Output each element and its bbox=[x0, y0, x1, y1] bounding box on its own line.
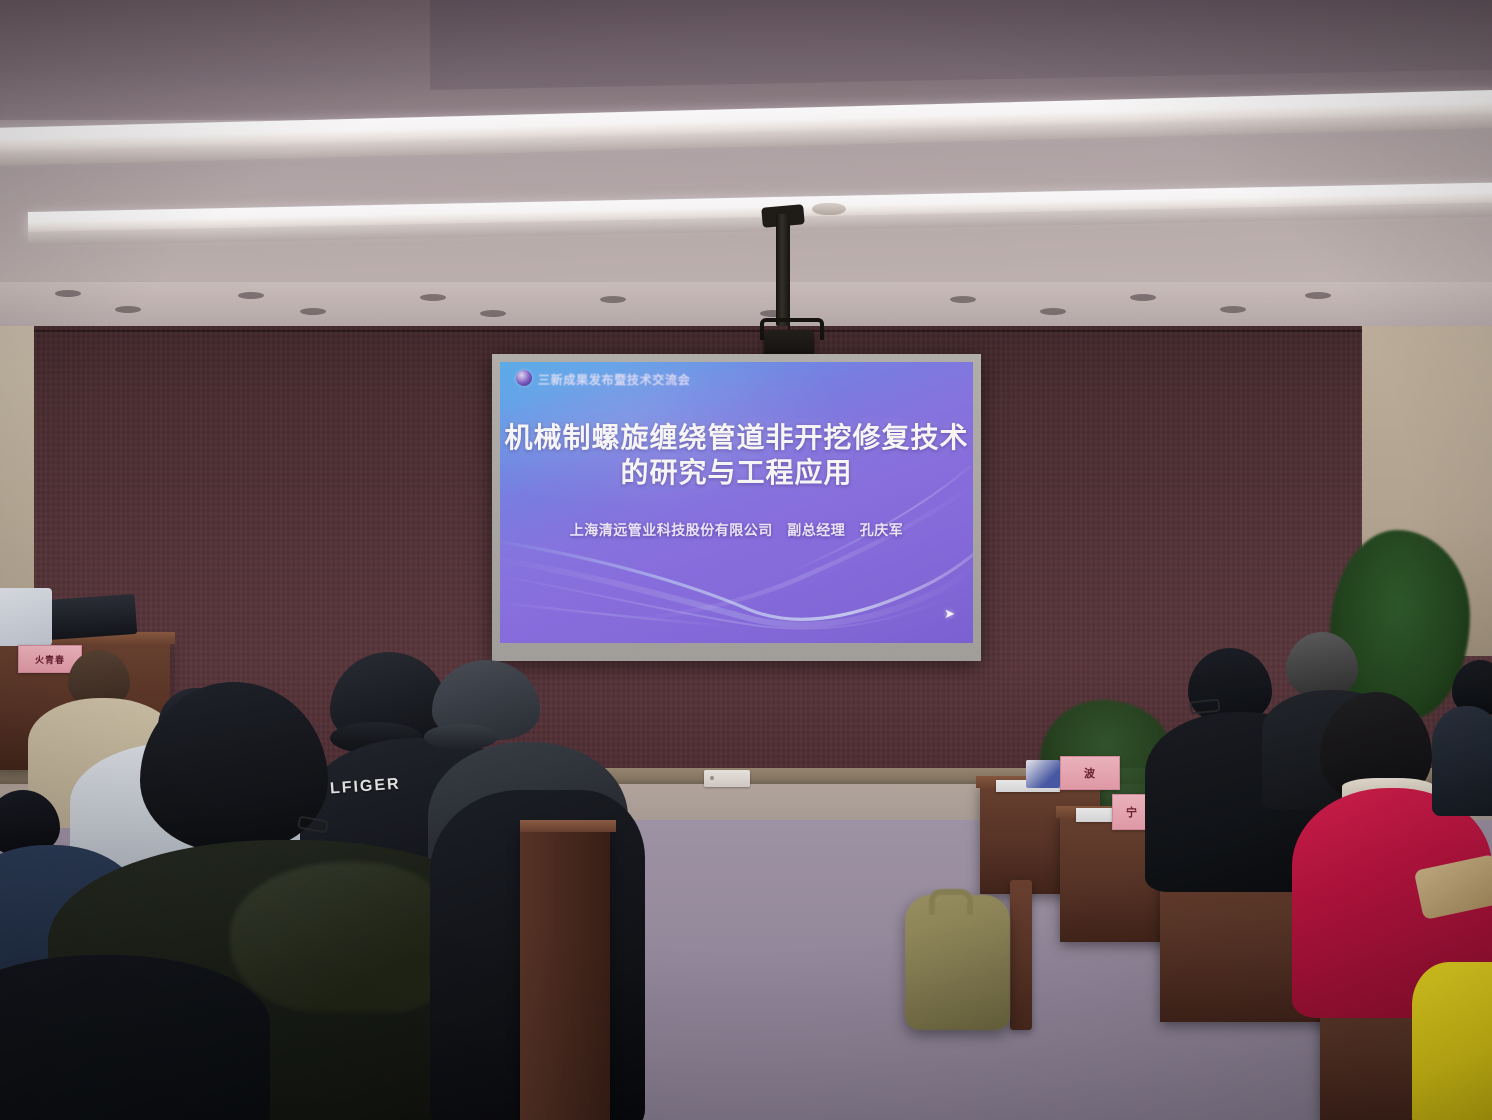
screen-glare bbox=[500, 362, 973, 643]
cap-brim bbox=[424, 724, 498, 750]
downlight bbox=[600, 296, 626, 303]
torso bbox=[0, 955, 270, 1120]
chair-leg bbox=[1010, 880, 1032, 1030]
downlight bbox=[300, 308, 326, 315]
projection-screen[interactable]: 三新成果发布暨技术交流会 机械制螺旋缠绕管道非开挖修复技术 的研究与工程应用 上… bbox=[500, 362, 973, 643]
camo-hood-pattern bbox=[230, 862, 460, 1012]
torso bbox=[1432, 706, 1492, 816]
downlight bbox=[1130, 294, 1156, 301]
downlight bbox=[115, 306, 141, 313]
placard-logo-card bbox=[1026, 760, 1060, 788]
desk-left-front-top bbox=[520, 820, 616, 832]
downlight bbox=[480, 310, 506, 317]
name-placard: 波 bbox=[1060, 756, 1120, 790]
laptop-lid bbox=[0, 588, 52, 646]
downlight bbox=[1040, 308, 1066, 315]
backpack-handle bbox=[929, 889, 973, 915]
wall-outlet-plate bbox=[704, 770, 750, 787]
desk-left-front-edge bbox=[520, 828, 610, 1120]
khaki-backpack bbox=[905, 895, 1010, 1030]
downlight bbox=[238, 292, 264, 299]
smoke-detector-icon bbox=[812, 203, 846, 215]
downlight bbox=[950, 296, 976, 303]
downlight bbox=[420, 294, 446, 301]
torso bbox=[1412, 962, 1492, 1120]
downlight bbox=[1305, 292, 1331, 299]
conference-room-photo: 三新成果发布暨技术交流会 机械制螺旋缠绕管道非开挖修复技术 的研究与工程应用 上… bbox=[0, 0, 1492, 1120]
downlight bbox=[55, 290, 81, 297]
downlight bbox=[1220, 306, 1246, 313]
wall-ceiling-seam bbox=[0, 330, 1492, 332]
